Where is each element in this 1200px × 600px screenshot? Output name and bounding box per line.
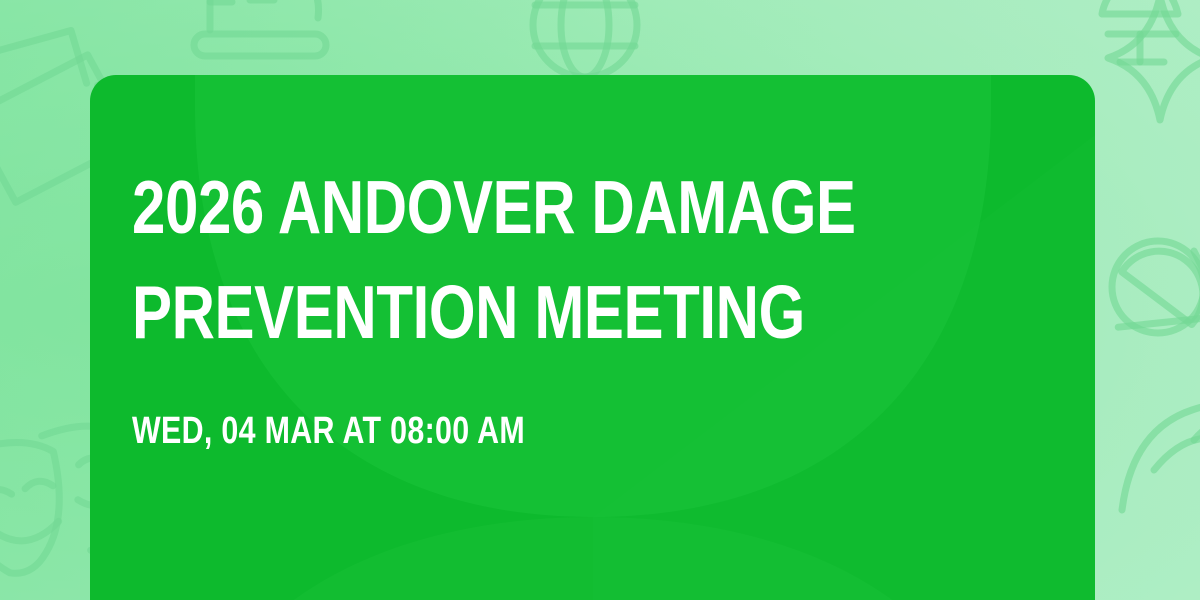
- event-banner: 2026 Andover Damage Prevention Meeting W…: [0, 0, 1200, 600]
- event-datetime: Wed, 04 Mar at 08:00 AM: [132, 409, 852, 453]
- balloon-icon: [1080, 0, 1200, 100]
- confetti-icon: [1110, 360, 1200, 530]
- event-card: 2026 Andover Damage Prevention Meeting W…: [90, 75, 1095, 600]
- card-content: 2026 Andover Damage Prevention Meeting W…: [132, 75, 1095, 600]
- event-title: 2026 Andover Damage Prevention Meeting: [132, 155, 1052, 365]
